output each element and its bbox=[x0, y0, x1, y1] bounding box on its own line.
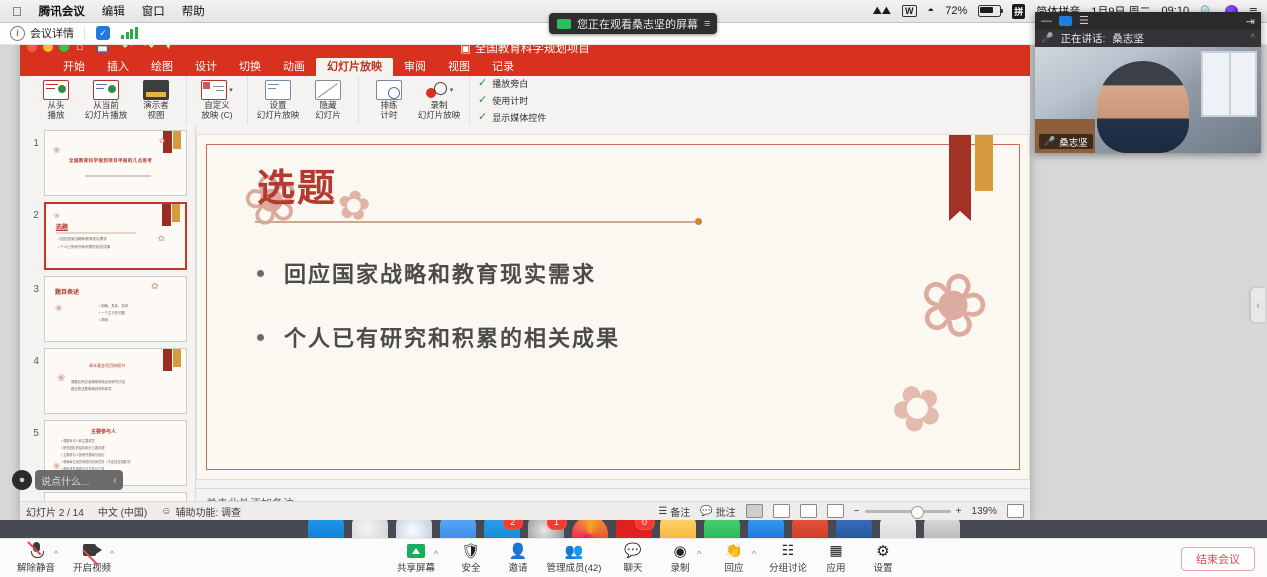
ribbon-group-setup: 设置 幻灯片放映 隐藏 幻灯片 bbox=[248, 76, 359, 124]
notes-icon: ☰ bbox=[658, 506, 667, 517]
hide-slide-icon bbox=[315, 80, 341, 100]
comment-placeholder: 说点什么... bbox=[41, 473, 89, 488]
tab-draw[interactable]: 绘图 bbox=[140, 57, 184, 76]
check-icon: ✓ bbox=[478, 95, 487, 106]
check-icon: ✓ bbox=[478, 112, 487, 123]
ribbon-group-timing: 排练 计时 ▾ 录制 幻灯片放映 bbox=[359, 76, 470, 124]
powerpoint-window: ⌂ 💾 ↶ ↷ ▾ ▣ 全国教育科学规划项目 开始 插入 绘图 设计 切换 动画… bbox=[20, 36, 1030, 520]
bookmark-decoration bbox=[949, 135, 971, 211]
custom-show-icon: ▾ bbox=[201, 80, 233, 100]
tab-insert[interactable]: 插入 bbox=[96, 57, 140, 76]
ribbon-group-start-show: 从头 播放 从当前 幻灯片播放 演示者 视图 bbox=[26, 76, 187, 124]
powerpoint-workspace: 1 全国教育科学规划项目申报的几点思考 ❀ ✿ 2 选题 • 回应国家战略和教育… bbox=[20, 124, 1030, 520]
slide-title-rule-dot bbox=[695, 218, 702, 225]
ribbon-checkbox-group: ✓ 播放旁白 ✓ 使用计时 ✓ 显示媒体控件 bbox=[470, 76, 554, 124]
bookmark-decoration-2 bbox=[975, 135, 993, 191]
shield-icon[interactable]: ✓ bbox=[96, 26, 110, 40]
wifi-icon[interactable]: ◓ bbox=[928, 5, 935, 17]
zoom-slider[interactable]: − + bbox=[854, 506, 962, 517]
mic-muted-icon bbox=[30, 542, 42, 559]
fit-to-window-icon[interactable] bbox=[1007, 504, 1024, 518]
thumbnail-title: 选题 bbox=[56, 222, 68, 231]
rehearse-timings-icon bbox=[376, 80, 402, 100]
manage-members-icon: 👥 bbox=[565, 542, 584, 559]
thumbnail-number: 3 bbox=[26, 284, 39, 295]
thumbnail-number: 5 bbox=[26, 428, 39, 439]
menu-item-edit[interactable]: 编辑 bbox=[102, 3, 125, 19]
zoom-knob[interactable] bbox=[911, 506, 924, 519]
slide-thumbnail-4[interactable]: 青年基金项目申报书 课题名称应准确简明地反映研究内容 题目表述要明确具体有新意 … bbox=[44, 348, 187, 414]
gallery-view-icon[interactable] bbox=[1059, 16, 1072, 26]
share-screen-icon bbox=[407, 542, 425, 559]
slide-thumbnail-3[interactable]: 题目表述 • 明确、具体、具体 • 一个主干的问题 • 简明 ❀ ✿ bbox=[44, 276, 187, 342]
record-icon[interactable]: ⏺ bbox=[12, 470, 32, 490]
video-caret-icon[interactable]: ^ bbox=[110, 549, 114, 559]
bullet-dot-icon bbox=[257, 334, 264, 341]
reaction-caret-icon[interactable]: ^ bbox=[752, 549, 756, 559]
list-view-icon[interactable]: ☰ bbox=[1079, 16, 1089, 27]
thumbnail-row[interactable]: 3 题目表述 • 明确、具体、具体 • 一个主干的问题 • 简明 ❀ ✿ bbox=[20, 270, 195, 342]
thumbnail-row[interactable]: 1 全国教育科学规划项目申报的几点思考 ❀ ✿ bbox=[20, 124, 195, 196]
setup-show-icon bbox=[265, 80, 291, 100]
thumbnail-row[interactable]: 4 青年基金项目申报书 课题名称应准确简明地反映研究内容 题目表述要明确具体有新… bbox=[20, 342, 195, 414]
speaking-label: 正在讲话: bbox=[1060, 31, 1105, 46]
breakout-rooms-icon: ☷ bbox=[782, 542, 795, 559]
thumbnail-title: 题目表述 bbox=[55, 287, 79, 296]
end-meeting-button[interactable]: 结束会议 bbox=[1181, 547, 1255, 571]
powerpoint-status-bar: 幻灯片 2 / 14 中文 (中国) ☺ 辅助功能: 调查 ☰ 备注 💬 批注 bbox=[20, 501, 1030, 520]
status-bar-right: ☰ 备注 💬 批注 − + 139% bbox=[658, 504, 1024, 519]
input-method-badge[interactable]: 拼 bbox=[1012, 4, 1025, 19]
reaction-icon: 👏 bbox=[725, 542, 742, 559]
thumbnail-row[interactable]: 2 选题 • 回应国家战略和教育现实需求 • 个人已有研究和积累的相关成果 ❀ … bbox=[20, 196, 195, 270]
slide-counter: 幻灯片 2 / 14 bbox=[26, 504, 84, 519]
tab-start[interactable]: 开始 bbox=[52, 57, 96, 76]
participant-silhouette bbox=[1097, 61, 1189, 153]
ribbon-button-presenter-view[interactable]: 演示者 视图 bbox=[132, 76, 180, 124]
zoom-level: 139% bbox=[971, 506, 997, 517]
dock-badge: 2 bbox=[503, 520, 523, 530]
reading-view-icon[interactable] bbox=[800, 504, 817, 518]
slide-thumbnail-panel[interactable]: 1 全国教育科学规划项目申报的几点思考 ❀ ✿ 2 选题 • 回应国家战略和教育… bbox=[20, 124, 196, 520]
meeting-toolbar: 解除静音 ^ 开启视频 ^ 共享屏幕 ^ 🛡 安全 👤 邀请 👥 管理成员(42… bbox=[0, 538, 1267, 577]
zoom-out-button[interactable]: − bbox=[854, 506, 860, 517]
ribbon-button-play-from-start[interactable]: 从头 播放 bbox=[32, 76, 80, 124]
divider bbox=[84, 27, 85, 39]
ribbon-button-rehearse-timings[interactable]: 排练 计时 bbox=[365, 76, 413, 124]
screen-share-banner[interactable]: 您正在观看桑志坚的屏幕 ≡ bbox=[549, 13, 717, 34]
word-icon[interactable]: W bbox=[902, 5, 917, 17]
bullet-dot-icon bbox=[257, 270, 264, 277]
ribbon-tab-bar: 开始 插入 绘图 设计 切换 动画 幻灯片放映 审阅 视图 记录 bbox=[20, 58, 1030, 76]
tab-review[interactable]: 审阅 bbox=[393, 57, 437, 76]
thumbnail-title: 主要参与人 bbox=[91, 428, 116, 435]
video-panel[interactable]: — ☰ ⇥ 🎤 正在讲话: 桑志坚 ^ 🎤 桑志坚 bbox=[1035, 12, 1261, 153]
hamburger-icon[interactable]: ≡ bbox=[704, 18, 709, 30]
notes-toggle[interactable]: ☰ 备注 bbox=[658, 504, 690, 519]
apps-grid-icon: ▦ bbox=[829, 542, 842, 559]
mic-active-icon: 🎤 bbox=[1044, 136, 1055, 147]
normal-view-icon[interactable] bbox=[746, 504, 763, 518]
comment-bubble-icon: 💬 bbox=[700, 506, 712, 517]
ribbon-button-record-show[interactable]: ▾ 录制 幻灯片放映 bbox=[415, 76, 463, 124]
participant-name-chip: 🎤 桑志坚 bbox=[1039, 134, 1093, 149]
checkbox-use-timings[interactable]: ✓ 使用计时 bbox=[478, 94, 546, 107]
tab-design[interactable]: 设计 bbox=[184, 57, 228, 76]
chat-bubble-icon: 💬 bbox=[624, 542, 641, 559]
play-from-start-icon bbox=[43, 80, 69, 100]
slide-bullet-2[interactable]: 个人已有研究和积累的相关成果 bbox=[257, 321, 620, 353]
menu-item-window[interactable]: 窗口 bbox=[142, 3, 165, 19]
record-caret-icon[interactable]: ^ bbox=[697, 549, 701, 559]
tab-view[interactable]: 视图 bbox=[437, 57, 481, 76]
ribbon-group-custom-show: ▾ 自定义 放映 (C) bbox=[187, 76, 248, 124]
thumbnail-number: 1 bbox=[26, 138, 39, 149]
ribbon-button-setup-show[interactable]: 设置 幻灯片放映 bbox=[254, 76, 302, 124]
battery-icon[interactable] bbox=[978, 5, 1001, 17]
security-shield-icon: 🛡 bbox=[461, 542, 480, 559]
video-feed[interactable]: 🎤 桑志坚 bbox=[1035, 47, 1261, 153]
zoom-track[interactable] bbox=[865, 510, 951, 513]
ribbon-button-hide-slide[interactable]: 隐藏 幻灯片 bbox=[304, 76, 352, 124]
weather-icon[interactable]: ⛰⛰ bbox=[873, 5, 891, 18]
tab-slideshow[interactable]: 幻灯片放映 bbox=[316, 57, 393, 76]
menu-item-help[interactable]: 帮助 bbox=[182, 3, 205, 19]
presenter-view-icon bbox=[143, 80, 169, 100]
toolbar-settings[interactable]: ⚙ 设置 bbox=[855, 542, 911, 574]
tab-transitions[interactable]: 切换 bbox=[228, 57, 272, 76]
thumbnail-title: 全国教育科学规划项目申报的几点思考 bbox=[69, 158, 152, 164]
chevron-left-icon[interactable]: ‹ bbox=[113, 475, 116, 486]
speaking-indicator: 🎤 正在讲话: 桑志坚 ^ bbox=[1035, 30, 1261, 47]
current-slide[interactable]: ❀ ✿ ❀ ✿ 选题 回应国家战略和教育现实需求 个人已有研究和积累的相关成果 bbox=[196, 134, 1030, 480]
screen-share-text: 您正在观看桑志坚的屏幕 bbox=[577, 16, 698, 32]
battery-percent: 72% bbox=[945, 5, 967, 17]
slide-title-rule bbox=[255, 221, 695, 223]
speaker-name: 桑志坚 bbox=[1112, 31, 1144, 46]
dock-badge: 0 bbox=[635, 520, 655, 530]
check-icon: ✓ bbox=[478, 78, 487, 89]
camera-off-icon bbox=[83, 542, 102, 559]
panel-collapse-handle[interactable]: ‹ bbox=[1251, 288, 1265, 322]
ribbon-toolbar: 从头 播放 从当前 幻灯片播放 演示者 视图 bbox=[20, 76, 1030, 125]
checkbox-play-narrations[interactable]: ✓ 播放旁白 bbox=[478, 77, 546, 90]
apple-icon[interactable]:  bbox=[12, 5, 22, 18]
screen-share-icon bbox=[557, 19, 571, 29]
toolbar-invite[interactable]: 👤 邀请 bbox=[490, 542, 546, 574]
slide-thumbnail-1[interactable]: 全国教育科学规划项目申报的几点思考 ❀ ✿ bbox=[44, 130, 187, 196]
menu-item-app[interactable]: 腾讯会议 bbox=[39, 3, 85, 19]
participant-name: 桑志坚 bbox=[1059, 135, 1088, 149]
slide-thumbnail-2[interactable]: 选题 • 回应国家战略和教育现实需求 • 个人已有研究和积累的相关成果 ❀ ✿ bbox=[44, 202, 187, 270]
expand-icon[interactable]: ⇥ bbox=[1246, 15, 1255, 28]
slide-bullet-1[interactable]: 回应国家战略和教育现实需求 bbox=[257, 257, 596, 289]
floating-comment-widget[interactable]: ⏺ 说点什么... ‹ bbox=[12, 470, 123, 490]
chevron-up-icon[interactable]: ^ bbox=[1250, 33, 1255, 44]
mic-muted-icon: 🎤 bbox=[1041, 33, 1053, 44]
ribbon-button-play-from-current[interactable]: 从当前 幻灯片播放 bbox=[82, 76, 130, 124]
network-bars-icon[interactable] bbox=[121, 27, 138, 39]
comment-input-pill[interactable]: 说点什么... ‹ bbox=[35, 470, 123, 490]
ribbon-button-custom-show[interactable]: ▾ 自定义 放映 (C) bbox=[193, 76, 241, 124]
info-icon[interactable]: i bbox=[10, 26, 25, 41]
invite-person-icon: 👤 bbox=[509, 542, 528, 559]
thumbnail-number: 4 bbox=[26, 356, 39, 367]
slide-editing-area: ❀ ✿ ❀ ✿ 选题 回应国家战略和教育现实需求 个人已有研究和积累的相关成果 … bbox=[196, 124, 1030, 520]
language-indicator[interactable]: 中文 (中国) bbox=[98, 504, 147, 519]
gear-icon: ⚙ bbox=[876, 542, 889, 559]
slide-sorter-icon[interactable] bbox=[773, 504, 790, 518]
checkbox-show-media-controls[interactable]: ✓ 显示媒体控件 bbox=[478, 111, 546, 124]
share-caret-icon[interactable]: ^ bbox=[434, 549, 438, 559]
record-circle-icon: ◉ bbox=[673, 542, 686, 559]
minimize-icon[interactable]: — bbox=[1041, 16, 1052, 27]
play-from-current-icon bbox=[93, 80, 119, 100]
video-panel-toolbar: — ☰ ⇥ bbox=[1035, 12, 1261, 30]
chevron-left-icon: ‹ bbox=[1256, 300, 1259, 311]
meeting-detail-label[interactable]: 会议详情 bbox=[30, 25, 74, 41]
accessibility-icon: ☺ bbox=[161, 506, 171, 517]
thumbnail-number: 2 bbox=[26, 210, 39, 221]
toolbar-manage-members[interactable]: 👥 管理成员(42) bbox=[543, 542, 605, 574]
background-window bbox=[1201, 51, 1257, 117]
slideshow-view-icon[interactable] bbox=[827, 504, 844, 518]
comments-toggle[interactable]: 💬 批注 bbox=[700, 504, 735, 519]
zoom-in-button[interactable]: + bbox=[956, 506, 962, 517]
tab-animations[interactable]: 动画 bbox=[272, 57, 316, 76]
dock-badge: 1 bbox=[547, 520, 567, 530]
tab-record[interactable]: 记录 bbox=[481, 57, 525, 76]
accessibility-status[interactable]: ☺ 辅助功能: 调查 bbox=[161, 504, 241, 519]
slide-title[interactable]: 选题 bbox=[257, 157, 337, 212]
unmute-caret-icon[interactable]: ^ bbox=[54, 549, 58, 559]
record-show-icon: ▾ bbox=[425, 80, 454, 100]
